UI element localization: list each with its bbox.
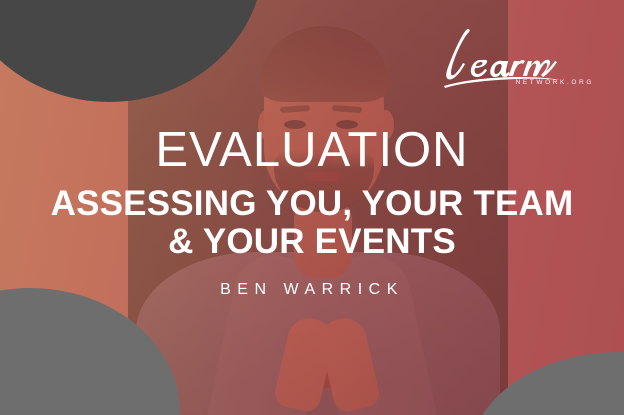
speaker-name: BEN WARRICK [0, 281, 624, 299]
slide-subtitle: ASSESSING YOU, YOUR TEAM & YOUR EVENTS [0, 185, 624, 261]
slide-text-block: EVALUATION ASSESSING YOU, YOUR TEAM & YO… [0, 126, 624, 299]
learn-network-logo: NETWORK.ORG [436, 22, 596, 92]
slide-title: EVALUATION [0, 126, 624, 175]
logo-subtitle: NETWORK.ORG [516, 79, 594, 86]
slide-subtitle-line-1: ASSESSING YOU, YOUR TEAM [0, 185, 624, 223]
presentation-slide: NETWORK.ORG EVALUATION ASSESSING YOU, YO… [0, 0, 624, 415]
slide-subtitle-line-2: & YOUR EVENTS [0, 223, 624, 261]
